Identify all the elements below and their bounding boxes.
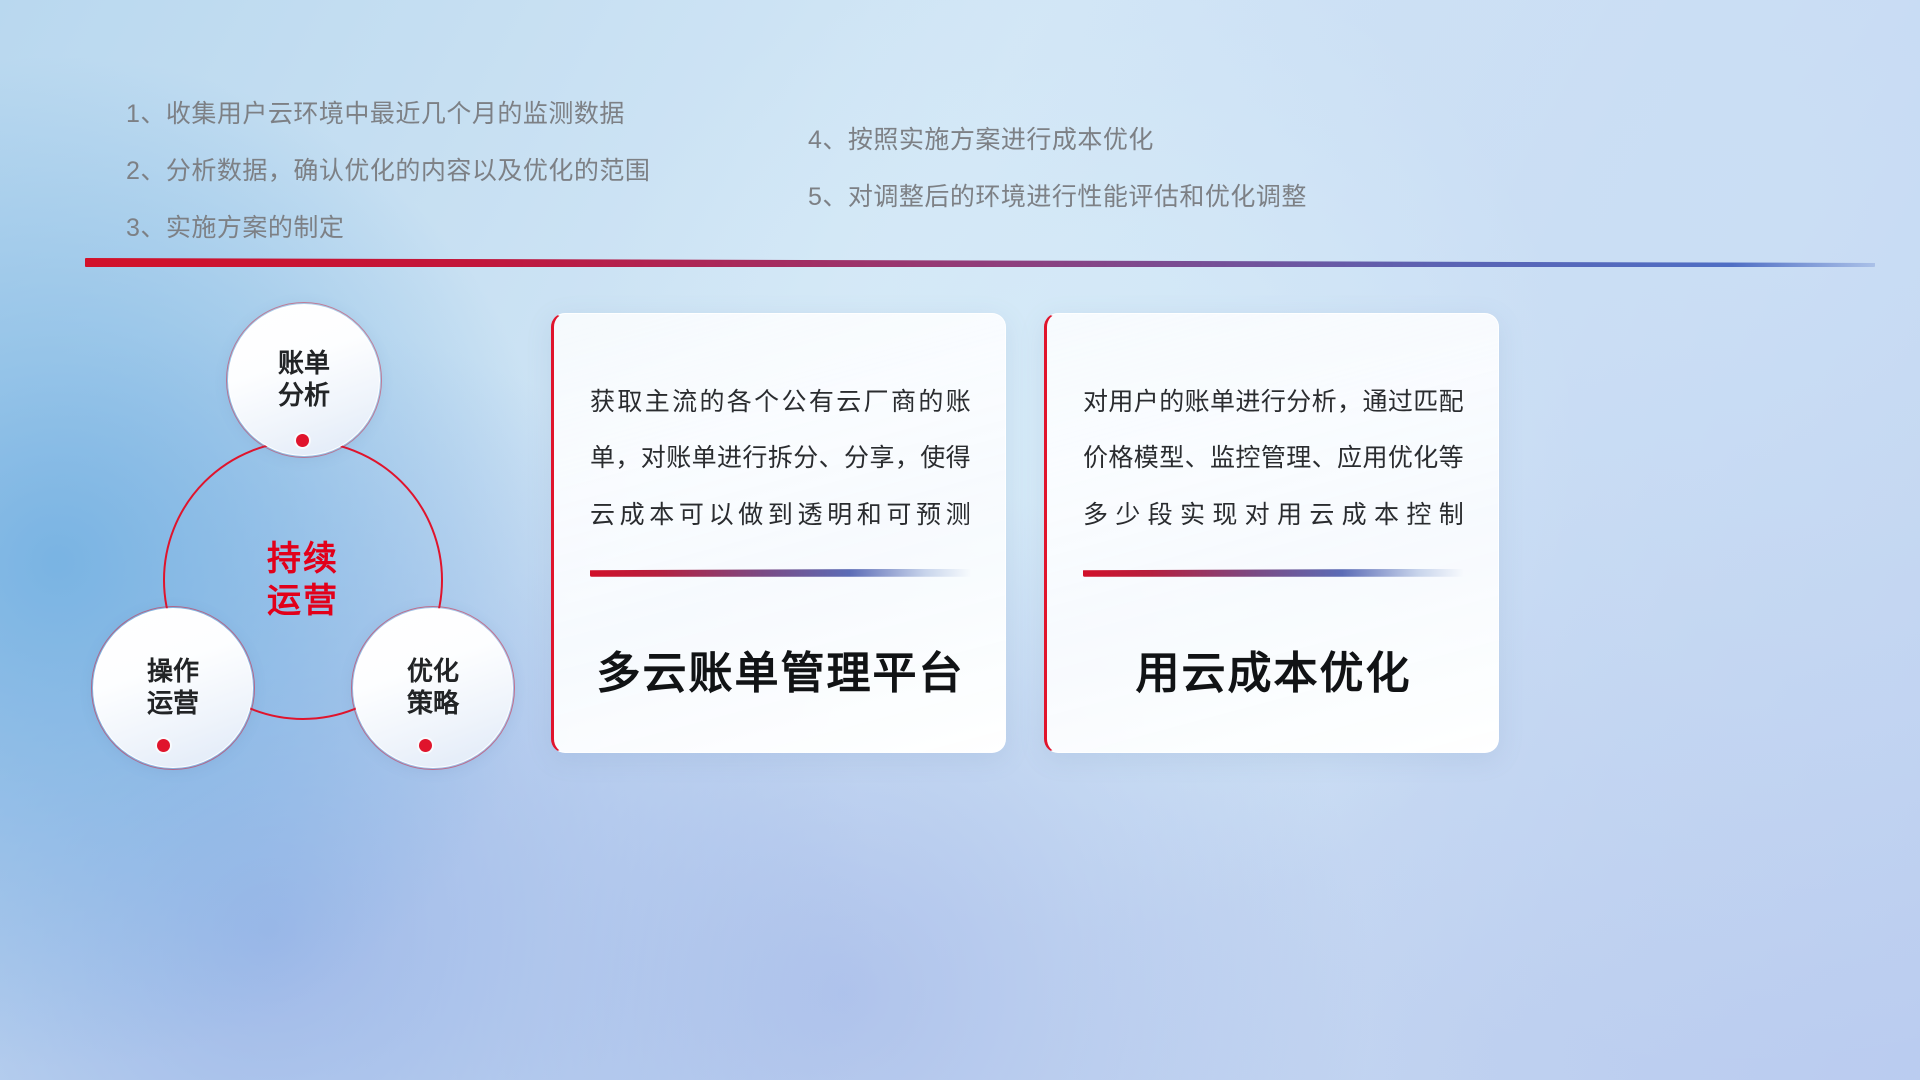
venn-connector-dot-top — [296, 434, 309, 447]
slide-canvas: 1、收集用户云环境中最近几个月的监测数据 2、分析数据，确认优化的内容以及优化的… — [0, 0, 1920, 1080]
feature-card-cost-optimization[interactable]: 对用户的账单进行分析，通过匹配价格模型、监控管理、应用优化等多少段实现对用云成本… — [1044, 313, 1499, 753]
venn-node-optimization-strategy[interactable]: 优化 策略 — [353, 608, 513, 768]
venn-diagram: 持续 运营 账单 分析 操作 运营 优化 策略 — [75, 296, 545, 776]
step-item-5: 5、对调整后的环境进行性能评估和优化调整 — [808, 185, 1307, 210]
venn-node-left-line-2: 运营 — [147, 688, 199, 720]
step-item-4: 4、按照实施方案进行成本优化 — [808, 128, 1307, 153]
venn-node-right-line-2: 策略 — [407, 688, 459, 720]
venn-center-line-2: 运营 — [267, 580, 339, 623]
venn-center-line-1: 持续 — [267, 538, 339, 581]
step-item-2: 2、分析数据，确认优化的内容以及优化的范围 — [126, 159, 650, 184]
venn-node-operations[interactable]: 操作 运营 — [93, 608, 253, 768]
venn-connector-dot-left — [157, 739, 170, 752]
card-2-body: 对用户的账单进行分析，通过匹配价格模型、监控管理、应用优化等多少段实现对用云成本… — [1083, 374, 1464, 543]
card-1-title: 多云账单管理平台 — [590, 650, 971, 752]
card-2-divider — [1083, 569, 1464, 577]
venn-node-top-line-2: 分析 — [278, 380, 330, 412]
step-item-1: 1、收集用户云环境中最近几个月的监测数据 — [126, 102, 650, 127]
section-divider — [85, 258, 1875, 267]
venn-node-left-line-1: 操作 — [147, 656, 199, 688]
feature-card-multicloud-billing[interactable]: 获取主流的各个公有云厂商的账单，对账单进行拆分、分享，使得云成本可以做到透明和可… — [551, 313, 1006, 753]
card-2-title: 用云成本优化 — [1083, 650, 1464, 752]
venn-connector-dot-right — [419, 739, 432, 752]
step-item-3: 3、实施方案的制定 — [126, 216, 650, 241]
steps-left-column: 1、收集用户云环境中最近几个月的监测数据 2、分析数据，确认优化的内容以及优化的… — [126, 102, 650, 241]
card-1-divider — [590, 569, 971, 577]
venn-node-top-line-1: 账单 — [278, 348, 330, 380]
card-1-body: 获取主流的各个公有云厂商的账单，对账单进行拆分、分享，使得云成本可以做到透明和可… — [590, 374, 971, 543]
steps-right-column: 4、按照实施方案进行成本优化 5、对调整后的环境进行性能评估和优化调整 — [808, 128, 1307, 210]
venn-node-right-line-1: 优化 — [407, 656, 459, 688]
